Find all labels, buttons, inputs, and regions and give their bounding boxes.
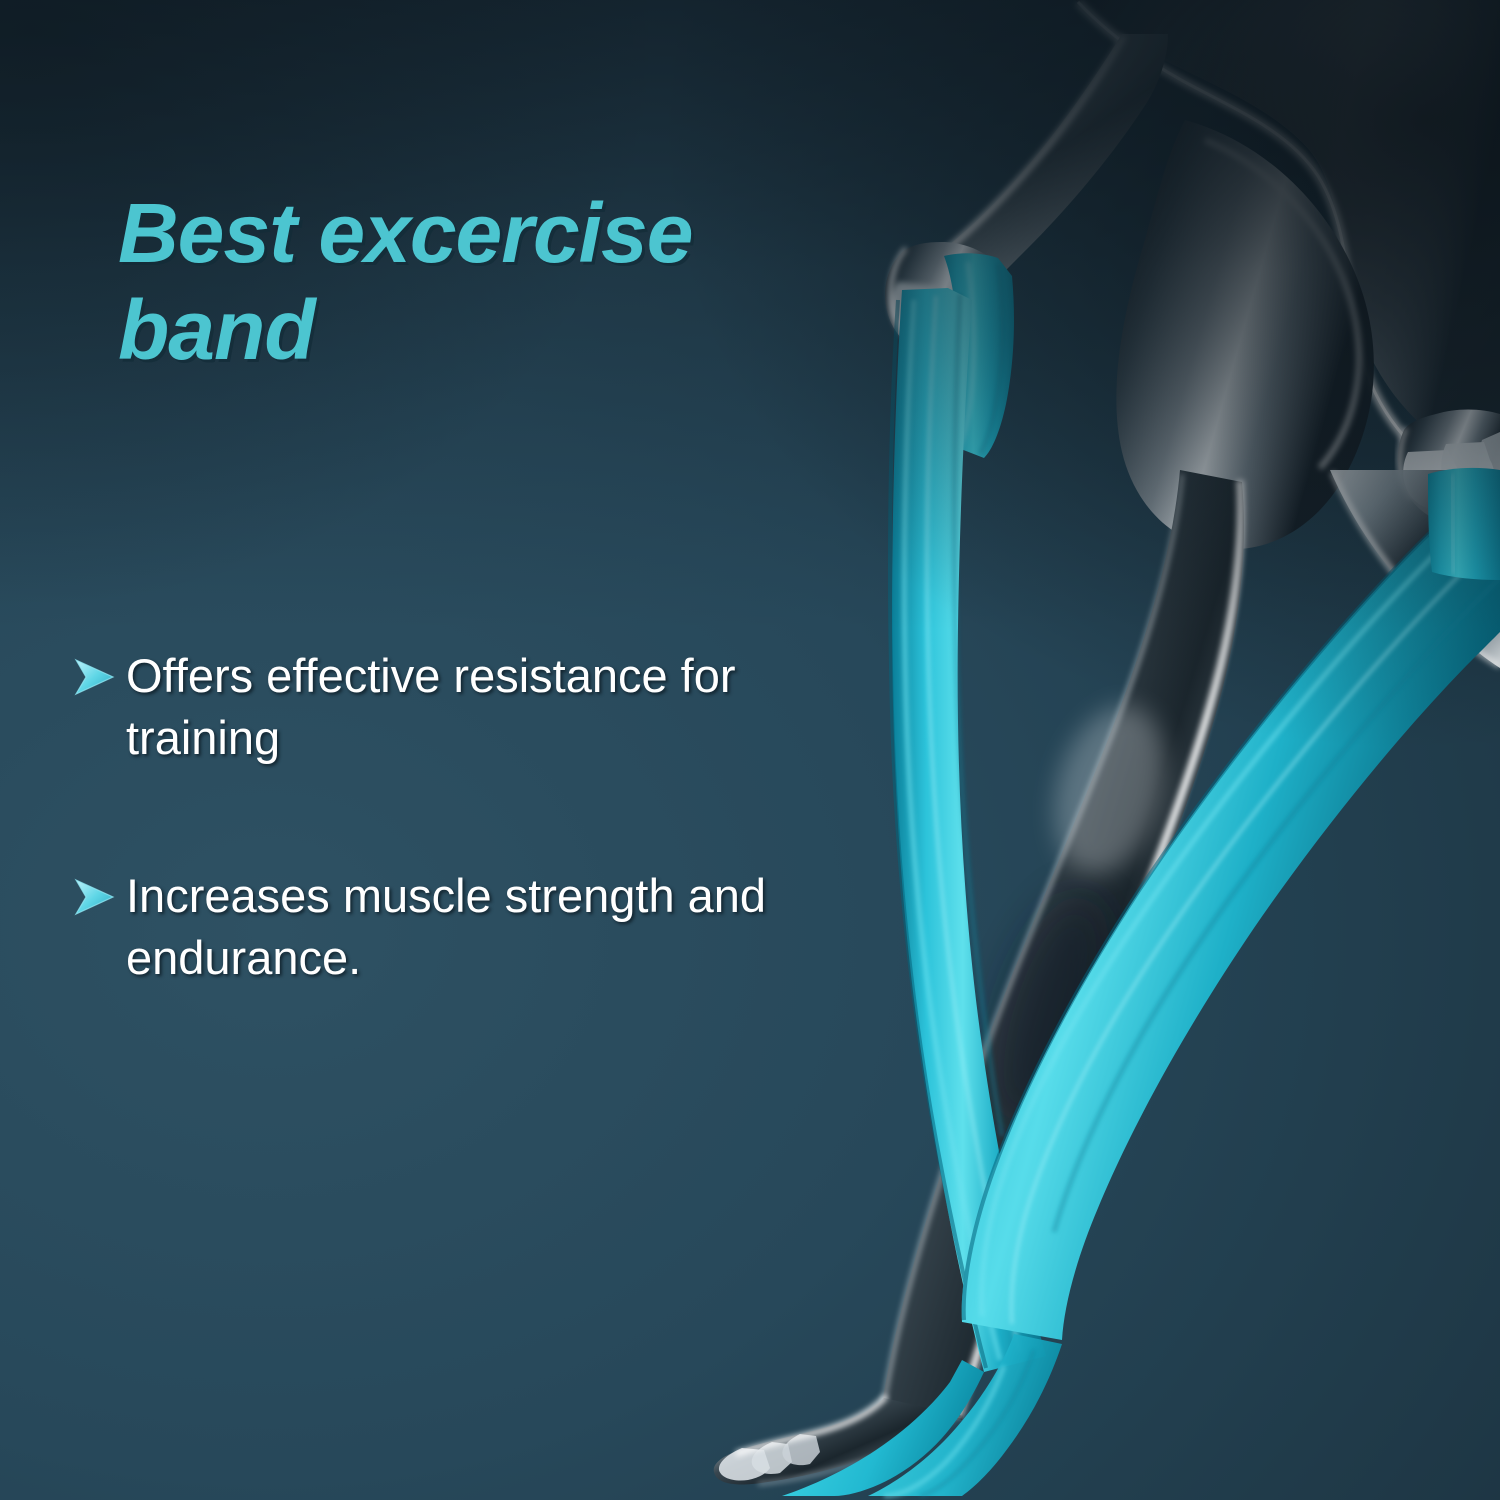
page-title: Best excercise band: [118, 185, 838, 378]
list-item: Offers effective resistance for training: [72, 645, 862, 769]
list-item-label: Offers effective resistance for training: [126, 645, 862, 769]
arrowhead-right-icon: [72, 657, 118, 697]
product-poster: Best excercise band: [0, 0, 1500, 1500]
list-item: Increases muscle strength and endurance.: [72, 865, 862, 989]
feature-bullet-list: Offers effective resistance for training: [72, 645, 862, 1085]
list-item-label: Increases muscle strength and endurance.: [126, 865, 862, 989]
text-column: Best excercise band: [0, 0, 880, 1500]
arrowhead-right-icon: [72, 877, 118, 917]
